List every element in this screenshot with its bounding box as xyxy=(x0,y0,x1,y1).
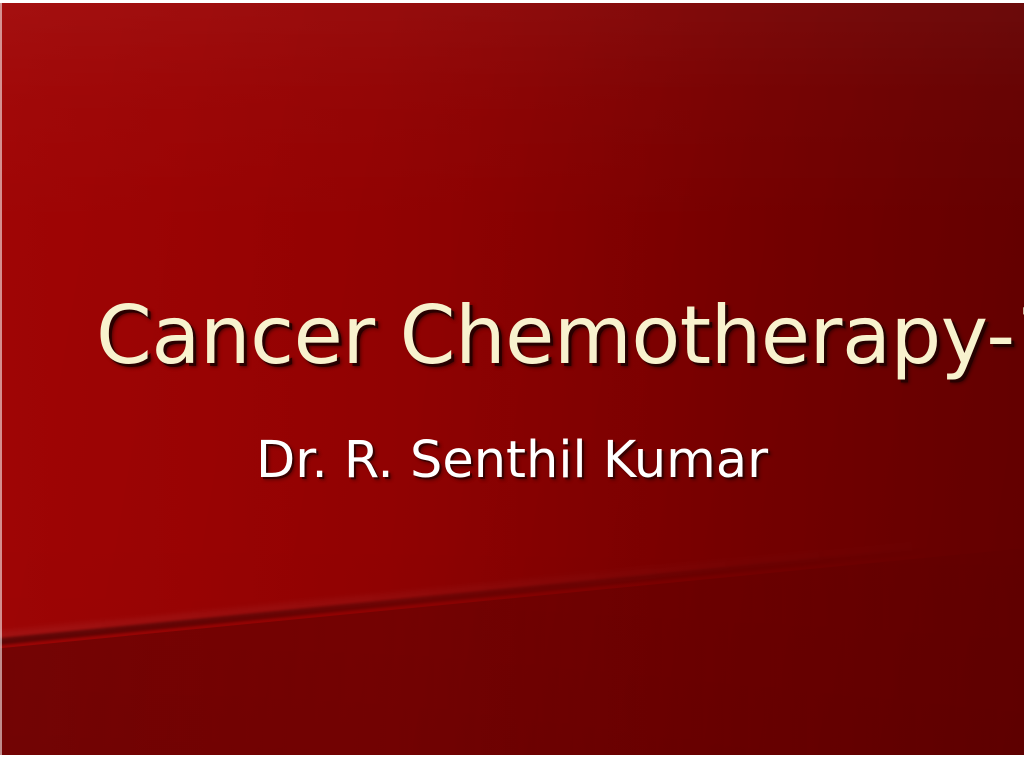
presentation-slide: Cancer Chemotherapy-1 Dr. R. Senthil Kum… xyxy=(0,0,1024,768)
slide-title: Cancer Chemotherapy-1 xyxy=(96,296,956,376)
slide-trim-left xyxy=(0,0,2,768)
slide-subtitle: Dr. R. Senthil Kumar xyxy=(0,435,1024,486)
slide-background: Cancer Chemotherapy-1 Dr. R. Senthil Kum… xyxy=(0,3,1024,755)
slide-text-layer: Cancer Chemotherapy-1 Dr. R. Senthil Kum… xyxy=(0,3,1024,755)
slide-trim-top xyxy=(0,0,1024,3)
slide-trim-bottom xyxy=(0,755,1024,768)
